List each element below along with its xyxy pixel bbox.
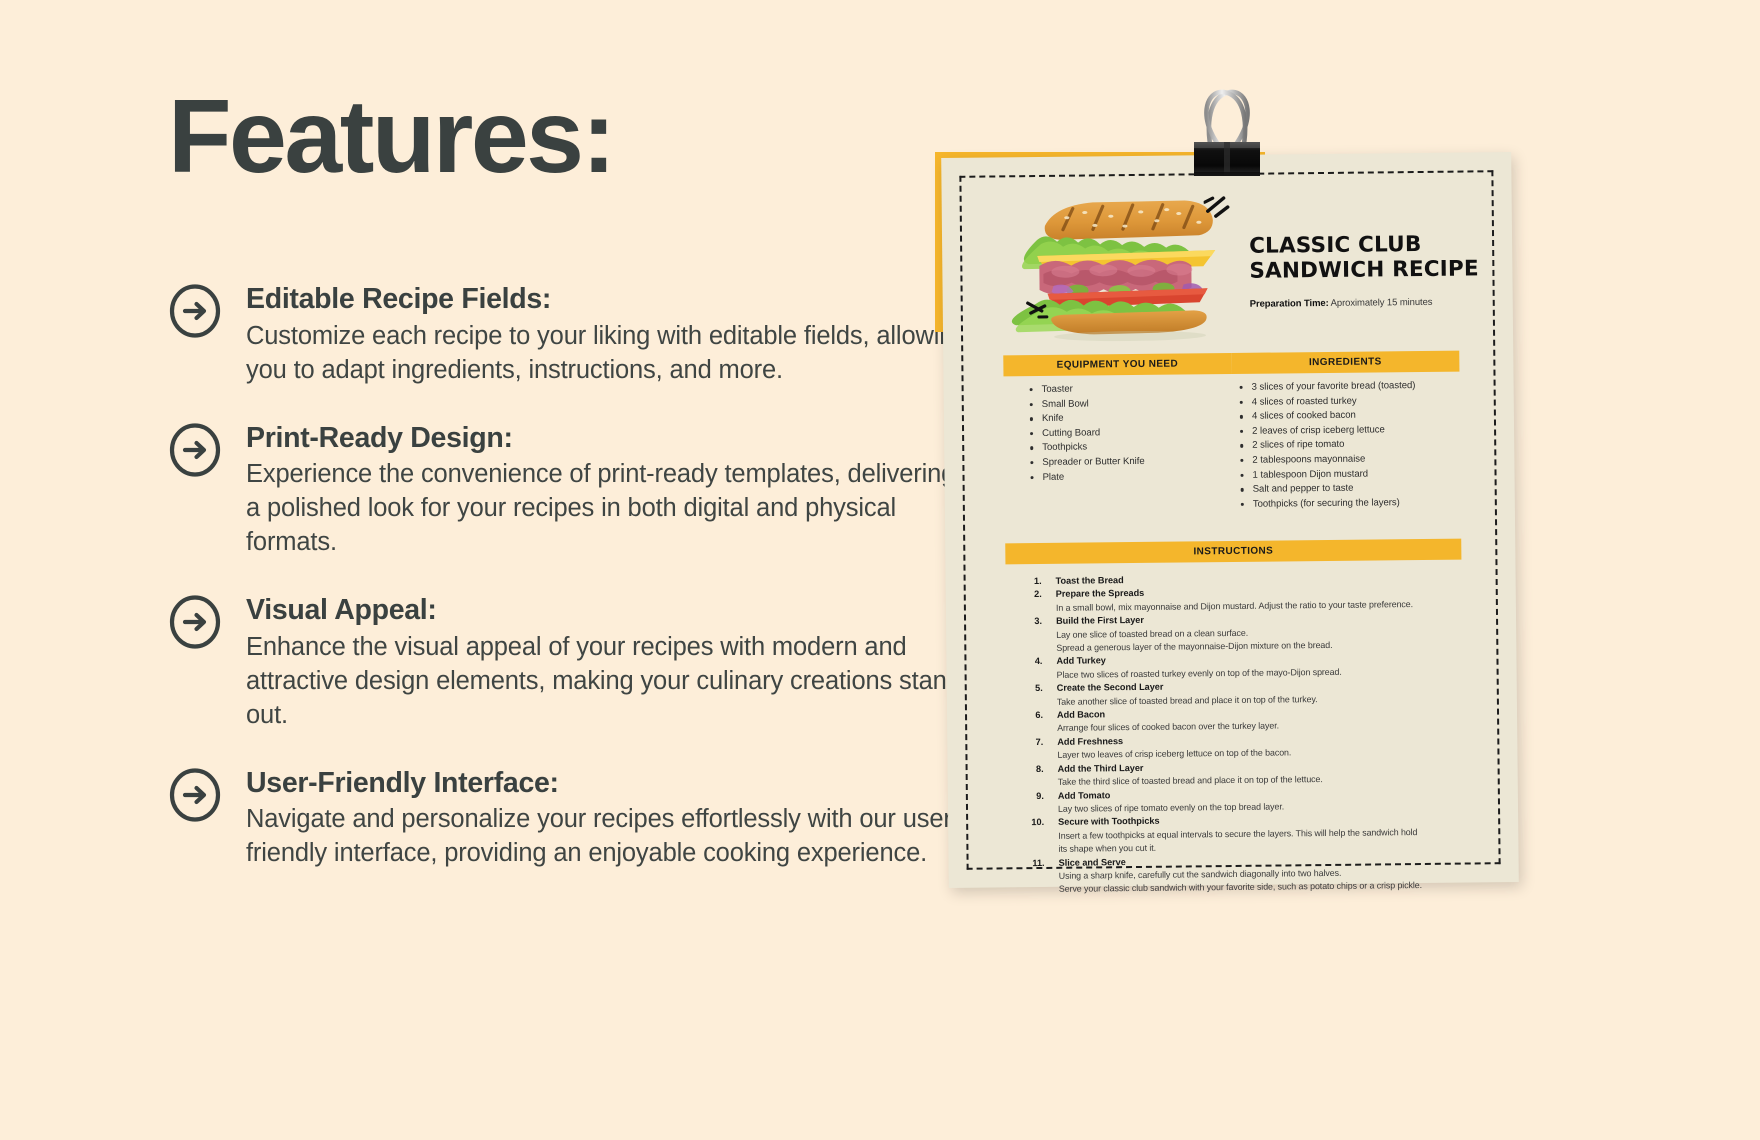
feature-heading: Visual Appeal: bbox=[246, 593, 968, 628]
preparation-time-label: Preparation Time: bbox=[1250, 298, 1329, 310]
list-item: 2 slices of ripe tomato bbox=[1252, 437, 1454, 453]
feature-heading: User-Friendly Interface: bbox=[246, 766, 968, 801]
list-item: 2 leaves of crisp iceberg lettuce bbox=[1252, 422, 1454, 438]
instruction-step-body: Add BaconArrange four slices of cooked b… bbox=[1057, 705, 1469, 736]
list-item: Plate bbox=[1042, 469, 1234, 485]
arrow-right-circle-icon bbox=[168, 768, 222, 822]
instruction-step-body: Add the Third LayerTake the third slice … bbox=[1058, 758, 1470, 789]
binder-clip-icon bbox=[1172, 76, 1282, 186]
arrow-right-circle-icon bbox=[168, 595, 222, 649]
instruction-step-body: Slice and ServeUsing a sharp knife, care… bbox=[1059, 852, 1471, 897]
section-header-instructions: INSTRUCTIONS bbox=[1005, 539, 1461, 565]
instruction-step-number: 5. bbox=[1009, 682, 1057, 696]
feature-heading: Print-Ready Design: bbox=[246, 421, 968, 456]
instruction-step-body: Add TurkeyPlace two slices of roasted tu… bbox=[1056, 651, 1468, 682]
preparation-time-value: Aproximately 15 minutes bbox=[1331, 297, 1433, 309]
arrow-right-circle-icon bbox=[168, 423, 222, 477]
instruction-step-body: Add FreshnessLayer two leaves of crisp i… bbox=[1057, 731, 1469, 762]
instruction-step-number: 1. bbox=[1008, 575, 1056, 589]
feature-body: Enhance the visual appeal of your recipe… bbox=[246, 631, 968, 733]
instructions-list: 1.Toast the Bread2.Prepare the SpreadsIn… bbox=[1008, 571, 1471, 898]
features-panel: Features: Editable Recipe Fields: Custom… bbox=[0, 0, 1010, 1140]
instruction-step-number: 9. bbox=[1010, 789, 1058, 803]
instruction-step-body: Create the Second LayerTake another slic… bbox=[1057, 678, 1469, 709]
feature-item-editable-recipe-fields: Editable Recipe Fields: Customize each r… bbox=[168, 282, 968, 388]
recipe-title: CLASSIC CLUB SANDWICH RECIPE bbox=[1249, 232, 1490, 284]
arrow-right-circle-icon bbox=[168, 284, 222, 338]
features-list: Editable Recipe Fields: Customize each r… bbox=[168, 282, 968, 904]
instruction-step: 11.Slice and ServeUsing a sharp knife, c… bbox=[1011, 852, 1471, 897]
feature-body: Navigate and personalize your recipes ef… bbox=[246, 803, 968, 871]
list-item: Toothpicks (for securing the layers) bbox=[1253, 496, 1455, 512]
feature-item-visual-appeal: Visual Appeal: Enhance the visual appeal… bbox=[168, 593, 968, 732]
instruction-step-body: Build the First LayerLay one slice of to… bbox=[1056, 611, 1468, 656]
instruction-step: 3.Build the First LayerLay one slice of … bbox=[1008, 611, 1468, 656]
list-item: Salt and pepper to taste bbox=[1253, 481, 1455, 497]
instruction-step-body: Secure with ToothpicksInsert a few tooth… bbox=[1058, 812, 1470, 857]
list-item: 4 slices of roasted turkey bbox=[1252, 393, 1454, 409]
instruction-step: 10.Secure with ToothpicksInsert a few to… bbox=[1010, 812, 1470, 857]
list-item: 2 tablespoons mayonnaise bbox=[1252, 452, 1454, 468]
feature-item-print-ready-design: Print-Ready Design: Experience the conve… bbox=[168, 421, 968, 560]
instruction-step-number: 11. bbox=[1011, 856, 1059, 870]
sparkle-lines-icon bbox=[1204, 195, 1232, 224]
list-item: Toothpicks bbox=[1042, 439, 1234, 455]
recipe-card: CLASSIC CLUB SANDWICH RECIPE Preparation… bbox=[941, 152, 1519, 888]
list-item: Spreader or Butter Knife bbox=[1042, 454, 1234, 470]
instruction-step-number: 6. bbox=[1009, 709, 1057, 723]
equipment-list: Toaster Small Bowl Knife Cutting Board T… bbox=[1024, 381, 1235, 485]
sparkle-lines-icon bbox=[1025, 299, 1051, 326]
feature-body: Experience the convenience of print-read… bbox=[246, 458, 968, 560]
recipe-preview: CLASSIC CLUB SANDWICH RECIPE Preparation… bbox=[900, 0, 1760, 1140]
feature-heading: Editable Recipe Fields: bbox=[246, 282, 968, 317]
page-title: Features: bbox=[168, 85, 614, 189]
instruction-step-number: 8. bbox=[1010, 763, 1058, 777]
instruction-step-number: 10. bbox=[1010, 816, 1058, 830]
instruction-step-number: 4. bbox=[1008, 655, 1056, 669]
preparation-time: Preparation Time: Aproximately 15 minute… bbox=[1250, 296, 1490, 310]
instruction-step-number: 2. bbox=[1008, 588, 1056, 602]
list-item: Knife bbox=[1042, 410, 1234, 426]
section-header-equipment: EQUIPMENT YOU NEED bbox=[1003, 353, 1231, 376]
section-header-ingredients: INGREDIENTS bbox=[1231, 351, 1459, 374]
list-item: 3 slices of your favorite bread (toasted… bbox=[1252, 379, 1454, 395]
list-item: 4 slices of cooked bacon bbox=[1252, 408, 1454, 424]
recipe-header: CLASSIC CLUB SANDWICH RECIPE Preparation… bbox=[1249, 232, 1490, 309]
list-item: Toaster bbox=[1042, 381, 1234, 397]
ingredients-list: 3 slices of your favorite bread (toasted… bbox=[1234, 379, 1455, 513]
list-item: 1 tablespoon Dijon mustard bbox=[1252, 466, 1454, 482]
feature-item-user-friendly-interface: User-Friendly Interface: Navigate and pe… bbox=[168, 766, 968, 872]
feature-body: Customize each recipe to your liking wit… bbox=[246, 320, 968, 388]
list-item: Cutting Board bbox=[1042, 425, 1234, 441]
instruction-step-number: 7. bbox=[1009, 736, 1057, 750]
instruction-step-number: 3. bbox=[1008, 615, 1056, 629]
list-item: Small Bowl bbox=[1042, 396, 1234, 412]
